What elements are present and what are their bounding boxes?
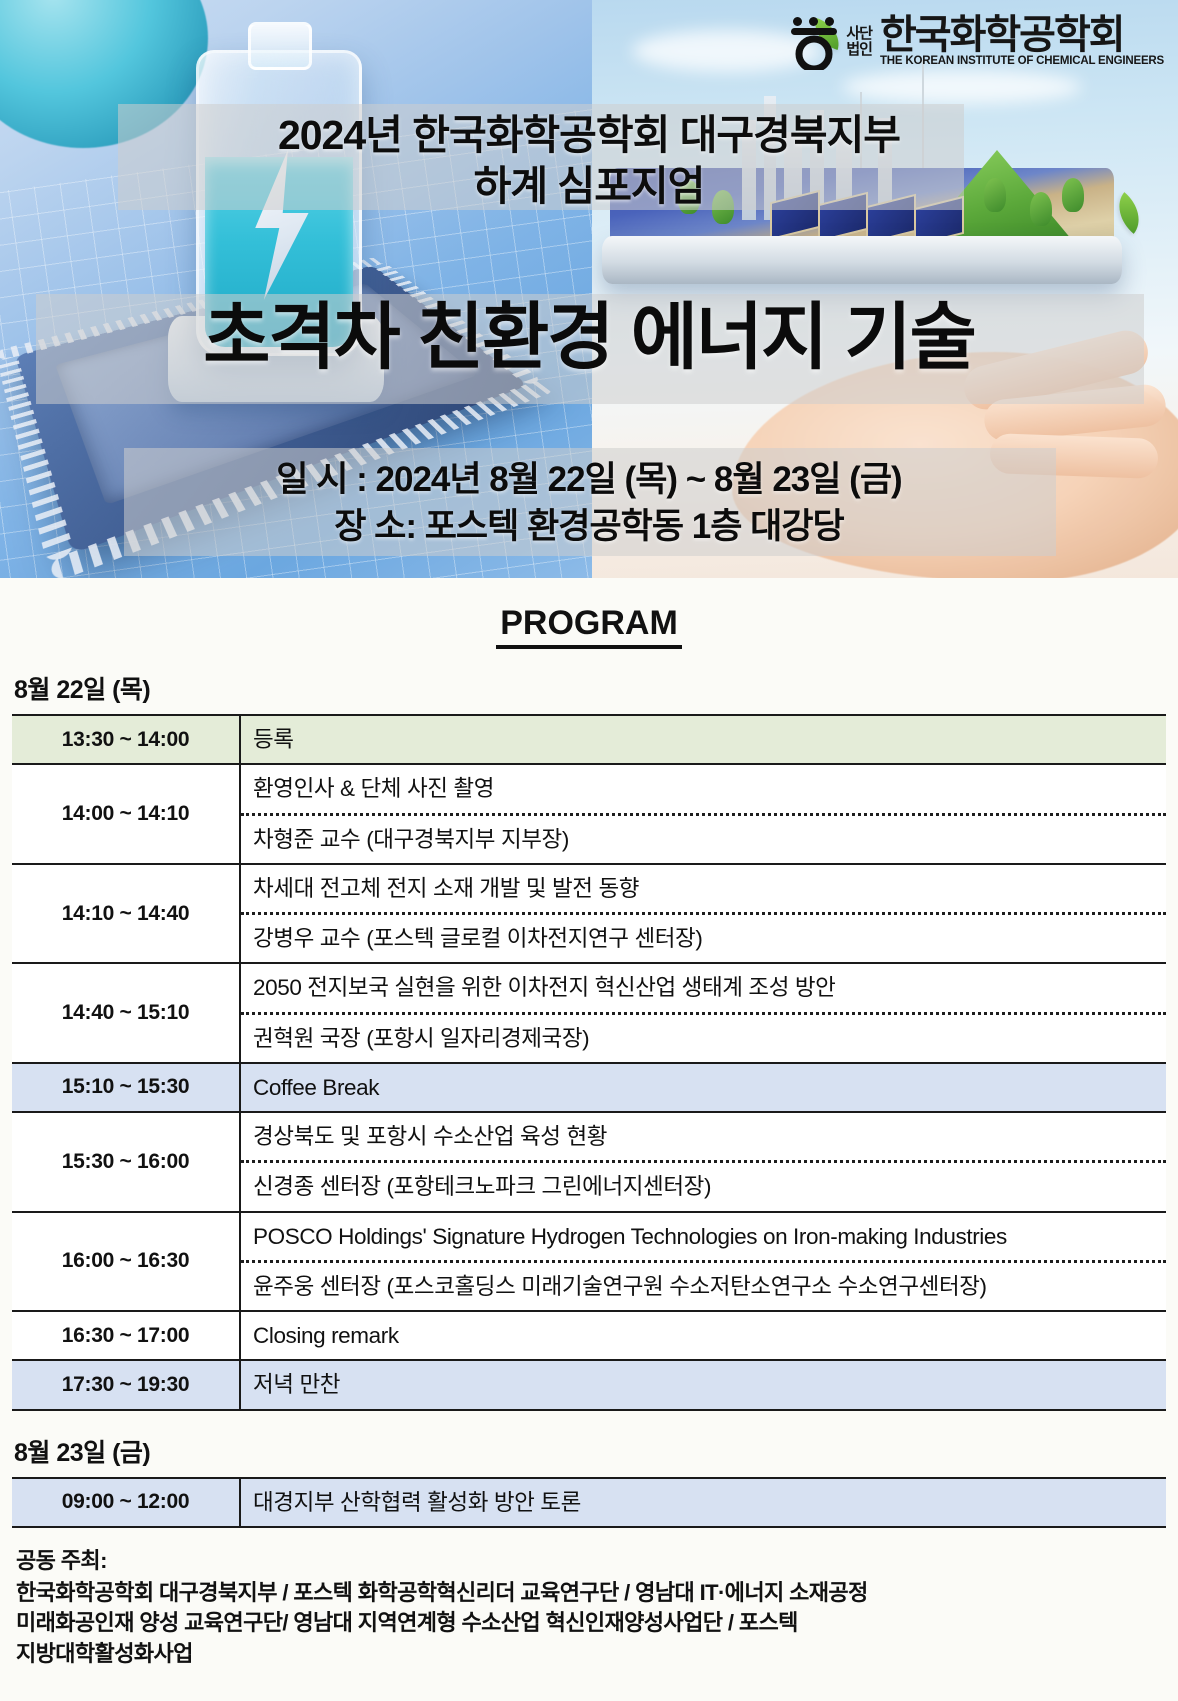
logo-sadan-text: 사단	[846, 26, 872, 42]
logo-bubin-text: 법인	[846, 42, 872, 58]
table-row: 15:10 ~ 15:30Coffee Break	[12, 1063, 1166, 1112]
program-heading: PROGRAM	[12, 604, 1166, 646]
session-body: POSCO Holdings' Signature Hydrogen Techn…	[240, 1212, 1166, 1312]
session-time: 14:00 ~ 14:10	[12, 764, 240, 864]
session-body: 경상북도 및 포항시 수소산업 육성 현황신경종 센터장 (포항테크노파크 그린…	[240, 1112, 1166, 1212]
event-info: 일 시 : 2024년 8월 22일 (목) ~ 8월 23일 (금) 장 소:…	[0, 456, 1178, 551]
event-date: 일 시 : 2024년 8월 22일 (목) ~ 8월 23일 (금)	[0, 456, 1178, 503]
session-body: 대경지부 산학협력 활성화 방안 토론	[240, 1478, 1166, 1527]
session-title: POSCO Holdings' Signature Hydrogen Techn…	[241, 1213, 1166, 1260]
schedule-table-day2: 09:00 ~ 12:00대경지부 산학협력 활성화 방안 토론	[12, 1477, 1166, 1528]
event-venue: 장 소: 포스텍 환경공학동 1층 대강당	[0, 503, 1178, 550]
session-body: 차세대 전고체 전지 소재 개발 및 발전 동향강병우 교수 (포스텍 글로컬 …	[240, 864, 1166, 964]
co-hosts-heading: 공동 주최:	[16, 1546, 1166, 1576]
event-theme: 초격차 친환경 에너지 기술	[0, 298, 1178, 378]
kiche-emblem-icon	[790, 14, 838, 70]
battery-cap	[248, 22, 312, 70]
table-row: 16:30 ~ 17:00Closing remark	[12, 1311, 1166, 1360]
co-hosts: 공동 주최: 한국화학공학회 대구경북지부 / 포스텍 화학공학혁신리더 교육연…	[16, 1546, 1166, 1669]
session-time: 16:00 ~ 16:30	[12, 1212, 240, 1312]
schedule-body-day1: 13:30 ~ 14:00등록14:00 ~ 14:10환영인사 & 단체 사진…	[12, 715, 1166, 1410]
schedule-body-day2: 09:00 ~ 12:00대경지부 산학협력 활성화 방안 토론	[12, 1478, 1166, 1527]
session-time: 14:10 ~ 14:40	[12, 864, 240, 964]
schedule-table-day1: 13:30 ~ 14:00등록14:00 ~ 14:10환영인사 & 단체 사진…	[12, 714, 1166, 1411]
kiche-logo: 사단 법인 한국화학공학회 THE KOREAN INSTITUTE OF CH…	[790, 14, 1164, 70]
table-row: 14:00 ~ 14:10환영인사 & 단체 사진 촬영차형준 교수 (대구경북…	[12, 764, 1166, 864]
session-title: 경상북도 및 포항시 수소산업 육성 현황	[241, 1113, 1166, 1160]
session-title: 저녁 만찬	[241, 1361, 1166, 1408]
table-row: 17:30 ~ 19:30저녁 만찬	[12, 1360, 1166, 1409]
table-row: 15:30 ~ 16:00경상북도 및 포항시 수소산업 육성 현황신경종 센터…	[12, 1112, 1166, 1212]
session-speaker: 권혁원 국장 (포항시 일자리경제국장)	[241, 1012, 1166, 1062]
session-time: 17:30 ~ 19:30	[12, 1360, 240, 1409]
event-title-line1: 2024년 한국화학공학회 대구경북지부	[0, 110, 1178, 161]
table-row: 09:00 ~ 12:00대경지부 산학협력 활성화 방안 토론	[12, 1478, 1166, 1527]
session-body: 환영인사 & 단체 사진 촬영차형준 교수 (대구경북지부 지부장)	[240, 764, 1166, 864]
logo-korean-name: 한국화학공학회	[880, 16, 1164, 54]
session-title: 2050 전지보국 실현을 위한 이차전지 혁신산업 생태계 조성 방안	[241, 964, 1166, 1011]
program-heading-text: PROGRAM	[496, 604, 682, 649]
event-title-line2: 하계 심포지엄	[0, 161, 1178, 212]
session-time: 15:10 ~ 15:30	[12, 1063, 240, 1112]
session-speaker: 강병우 교수 (포스텍 글로컬 이차전지연구 센터장)	[241, 912, 1166, 962]
day-label-1: 8월 22일 (목)	[14, 670, 1166, 706]
table-row: 16:00 ~ 16:30POSCO Holdings' Signature H…	[12, 1212, 1166, 1312]
session-time: 14:40 ~ 15:10	[12, 963, 240, 1063]
co-hosts-line1: 한국화학공학회 대구경북지부 / 포스텍 화학공학혁신리더 교육연구단 / 영남…	[16, 1578, 1166, 1608]
session-time: 16:30 ~ 17:00	[12, 1311, 240, 1360]
session-speaker: 신경종 센터장 (포항테크노파크 그린에너지센터장)	[241, 1160, 1166, 1210]
day-label-2: 8월 23일 (금)	[14, 1433, 1166, 1469]
logo-english-name: THE KOREAN INSTITUTE OF CHEMICAL ENGINEE…	[880, 56, 1164, 68]
session-time: 09:00 ~ 12:00	[12, 1478, 240, 1527]
session-speaker: 윤주웅 센터장 (포스코홀딩스 미래기술연구원 수소저탄소연구소 수소연구센터장…	[241, 1260, 1166, 1310]
co-hosts-line3: 지방대학활성화사업	[16, 1639, 1166, 1669]
session-title: 환영인사 & 단체 사진 촬영	[241, 765, 1166, 812]
table-row: 14:40 ~ 15:102050 전지보국 실현을 위한 이차전지 혁신산업 …	[12, 963, 1166, 1063]
session-title: 차세대 전고체 전지 소재 개발 및 발전 동향	[241, 865, 1166, 912]
program-section: PROGRAM 8월 22일 (목) 13:30 ~ 14:00등록14:00 …	[0, 604, 1178, 1669]
event-title: 2024년 한국화학공학회 대구경북지부 하계 심포지엄	[0, 110, 1178, 213]
session-title: Coffee Break	[241, 1064, 1166, 1111]
session-title: Closing remark	[241, 1312, 1166, 1359]
co-hosts-line2: 미래화공인재 양성 교육연구단/ 영남대 지역연계형 수소산업 혁신인재양성사업…	[16, 1608, 1166, 1638]
platform-base	[602, 236, 1122, 284]
session-speaker: 차형준 교수 (대구경북지부 지부장)	[241, 813, 1166, 863]
table-row: 14:10 ~ 14:40차세대 전고체 전지 소재 개발 및 발전 동향강병우…	[12, 864, 1166, 964]
session-time: 13:30 ~ 14:00	[12, 715, 240, 764]
session-body: Coffee Break	[240, 1063, 1166, 1112]
session-body: 저녁 만찬	[240, 1360, 1166, 1409]
symposium-poster: 사단 법인 한국화학공학회 THE KOREAN INSTITUTE OF CH…	[0, 0, 1178, 1701]
session-body: 2050 전지보국 실현을 위한 이차전지 혁신산업 생태계 조성 방안권혁원 …	[240, 963, 1166, 1063]
session-title: 대경지부 산학협력 활성화 방안 토론	[241, 1479, 1166, 1526]
table-row: 13:30 ~ 14:00등록	[12, 715, 1166, 764]
session-body: Closing remark	[240, 1311, 1166, 1360]
hero-banner: 사단 법인 한국화학공학회 THE KOREAN INSTITUTE OF CH…	[0, 0, 1178, 578]
session-time: 15:30 ~ 16:00	[12, 1112, 240, 1212]
session-body: 등록	[240, 715, 1166, 764]
cloud	[842, 70, 1082, 104]
session-title: 등록	[241, 716, 1166, 763]
